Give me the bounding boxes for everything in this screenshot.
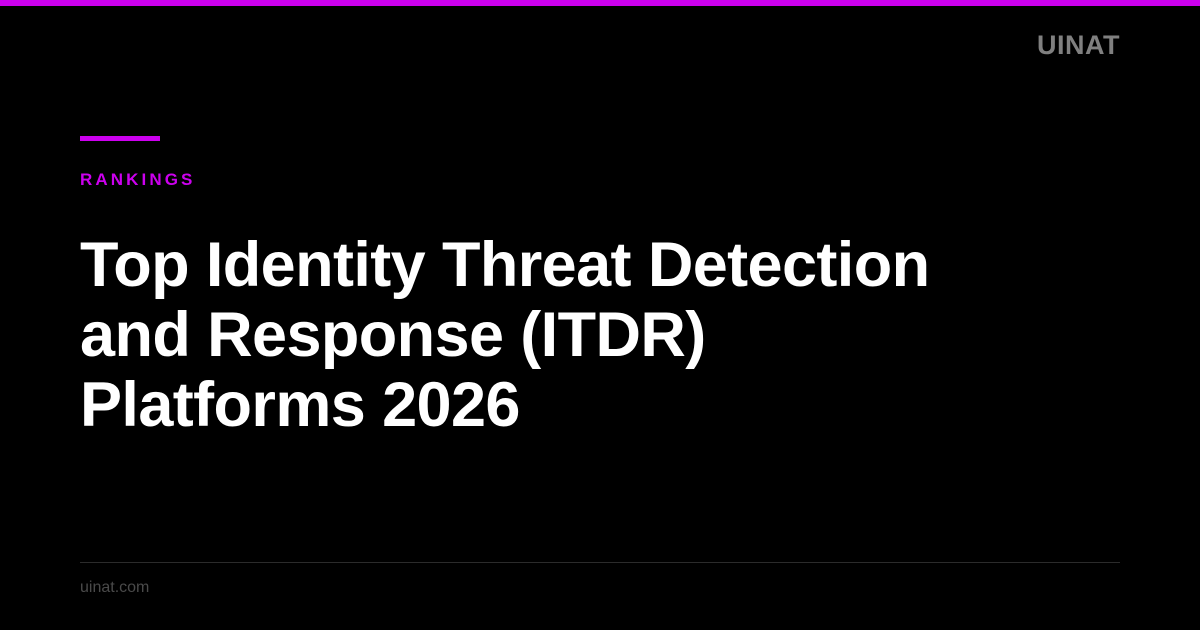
brand-logo: UINAT: [1037, 32, 1120, 59]
eyebrow-accent-dash: [80, 136, 160, 141]
category-label: RANKINGS: [80, 171, 1120, 188]
card-content: RANKINGS Top Identity Threat Detection a…: [80, 136, 1120, 440]
page-title: Top Identity Threat Detection and Respon…: [80, 230, 980, 440]
footer-divider: [80, 562, 1120, 563]
share-card: UINAT RANKINGS Top Identity Threat Detec…: [0, 0, 1200, 630]
top-accent-bar: [0, 0, 1200, 6]
footer-site-url: uinat.com: [80, 580, 149, 596]
